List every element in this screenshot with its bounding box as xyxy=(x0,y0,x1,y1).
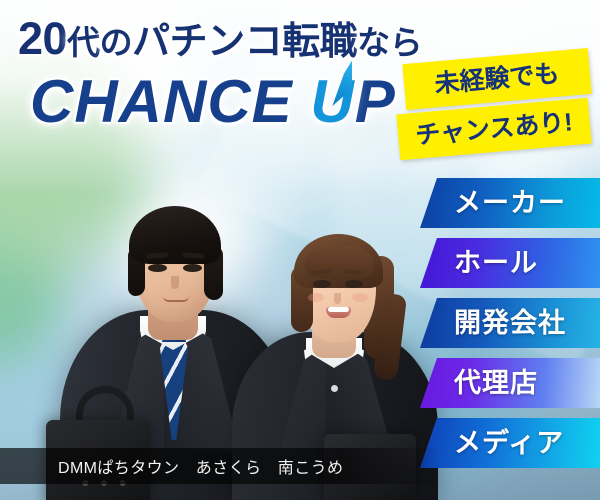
logo-letter-u: U xyxy=(310,72,354,132)
category-band-agency[interactable]: 代理店 xyxy=(420,358,600,408)
woman-nose xyxy=(334,293,341,304)
category-band-hall[interactable]: ホール xyxy=(420,238,600,288)
man-eye-left xyxy=(148,264,167,272)
woman-eye-left xyxy=(313,280,331,288)
man-mouth xyxy=(163,296,189,302)
woman-blouse-button xyxy=(331,385,338,392)
recruitment-banner-ad[interactable]: 20代のパチンコ転職なら CHANCE UP 未経験でも チャンスあり! メーカ… xyxy=(0,0,600,500)
logo-word-chance: CHANCE xyxy=(30,68,293,135)
man-nose xyxy=(171,276,179,289)
category-band-development-company[interactable]: 開発会社 xyxy=(420,298,600,348)
category-label: 開発会社 xyxy=(454,310,566,337)
chance-up-logo: CHANCE UP xyxy=(30,72,396,132)
category-label: メーカー xyxy=(454,190,566,217)
category-band-media[interactable]: メディア xyxy=(420,418,600,468)
woman-teeth xyxy=(328,307,349,312)
woman-cheek-right xyxy=(352,293,368,302)
caption-text: DMMぱちタウン あさくら 南こうめ xyxy=(58,454,343,478)
woman-cheek-left xyxy=(308,293,324,302)
man-eye-right xyxy=(183,264,202,272)
headline-particle: の xyxy=(100,24,133,61)
headline-age-unit: 代 xyxy=(67,24,100,61)
category-band-list: メーカー ホール 開発会社 代理店 メディア xyxy=(420,178,600,478)
category-label: メディア xyxy=(454,430,564,457)
headline: 20代のパチンコ転職なら xyxy=(18,16,422,61)
category-label: ホール xyxy=(454,250,538,277)
logo-letter-u-text: U xyxy=(310,68,354,135)
caption-strip: DMMぱちタウン あさくら 南こうめ xyxy=(0,448,440,484)
headline-keyword: パチンコ転職 xyxy=(132,21,357,63)
logo-letter-p: P xyxy=(355,68,396,135)
woman-eye-right xyxy=(345,280,363,288)
man-hair xyxy=(129,206,221,264)
highlight-badge: 未経験でも チャンスあり! xyxy=(398,54,590,162)
headline-age-number: 20 xyxy=(18,13,67,64)
category-band-maker[interactable]: メーカー xyxy=(420,178,600,228)
category-label: 代理店 xyxy=(454,370,538,397)
